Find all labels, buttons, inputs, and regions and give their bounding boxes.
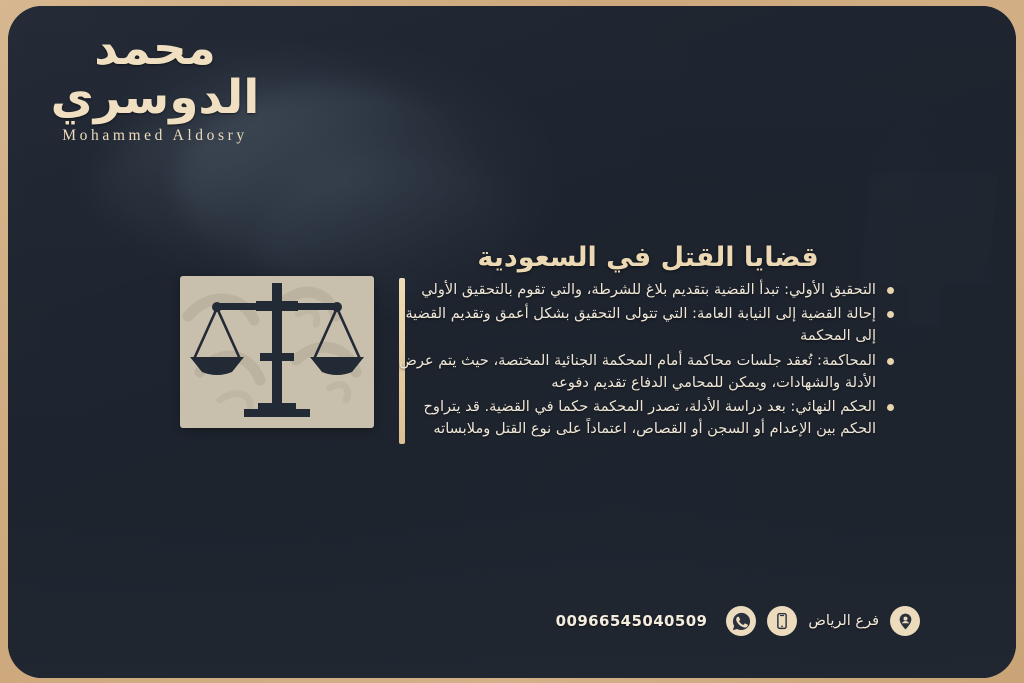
location-pin-glyph — [896, 612, 915, 631]
footer-contact-bar: فرع الرياض 00966545040509 — [556, 606, 920, 636]
steps-list: التحقيق الأولي: تبدأ القضية بتقديم بلاغ … — [398, 279, 898, 440]
whatsapp-glyph — [731, 611, 752, 632]
content-block: قضايا القتل في السعودية التحقيق الأولي: … — [398, 242, 898, 442]
list-item: التحقيق الأولي: تبدأ القضية بتقديم بلاغ … — [398, 279, 898, 301]
phone-number[interactable]: 00966545040509 — [556, 612, 708, 630]
poster-canvas: محمد الدوسري Mohammed Aldosry — [0, 0, 1024, 683]
branch-label: فرع الرياض — [808, 613, 879, 629]
list-item: المحاكمة: تُعقد جلسات محاكمة أمام المحكم… — [398, 350, 898, 394]
scales-of-justice-icon — [186, 277, 368, 427]
mobile-phone-glyph — [773, 612, 791, 630]
scales-of-justice-card — [180, 276, 374, 428]
mobile-phone-icon[interactable] — [767, 606, 797, 636]
page-title: قضايا القتل في السعودية — [398, 242, 898, 273]
location-pin-icon[interactable] — [890, 606, 920, 636]
dark-panel: محمد الدوسري Mohammed Aldosry — [8, 6, 1016, 678]
brand-logo-latin: Mohammed Aldosry — [30, 127, 280, 145]
list-item: الحكم النهائي: بعد دراسة الأدلة، تصدر ال… — [398, 396, 898, 440]
list-item: إحالة القضية إلى النيابة العامة: التي تت… — [398, 303, 898, 347]
brand-logo-arabic: محمد الدوسري — [30, 24, 280, 123]
brand-logo: محمد الدوسري Mohammed Aldosry — [30, 24, 280, 145]
whatsapp-icon[interactable] — [726, 606, 756, 636]
